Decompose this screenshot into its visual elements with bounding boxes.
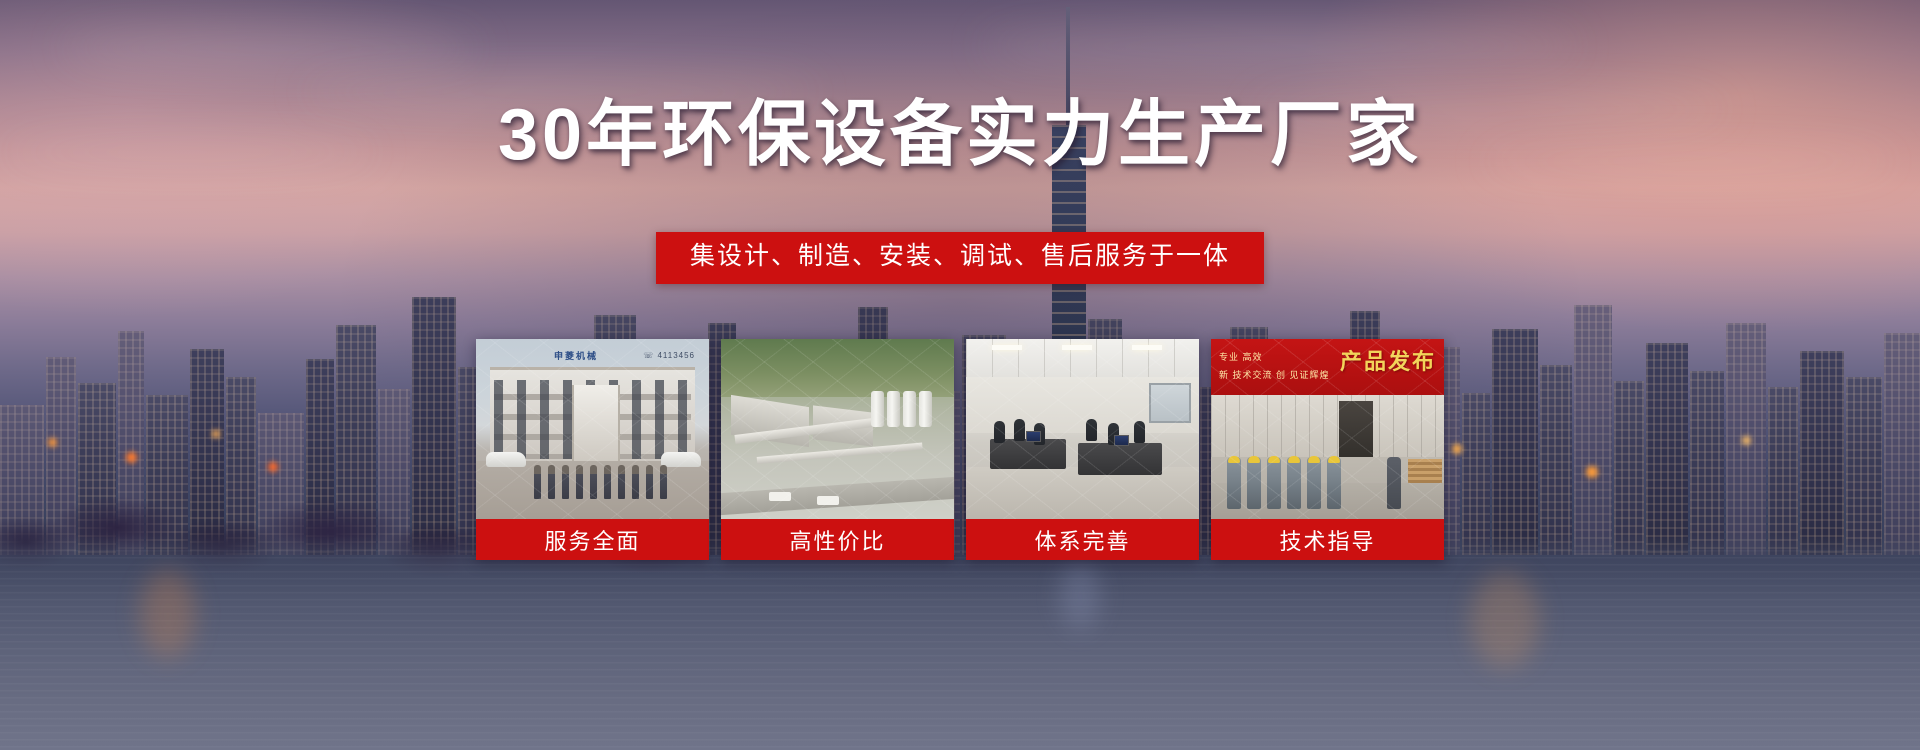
- office-building-staff-photo: 申菱机械 ☏ 4113456: [476, 339, 709, 519]
- subtitle-badge: 集设计、制造、安装、调试、售后服务于一体: [656, 232, 1264, 284]
- feature-card-caption: 技术指导: [1211, 519, 1444, 560]
- banner-content: 30年环保设备实力生产厂家 集设计、制造、安装、调试、售后服务于一体 申菱机械 …: [0, 0, 1920, 750]
- page-title: 30年环保设备实力生产厂家: [0, 99, 1920, 171]
- feature-card[interactable]: 高性价比: [721, 339, 954, 560]
- feature-card-caption: 服务全面: [476, 519, 709, 560]
- aerial-industrial-plant-photo: [721, 339, 954, 519]
- factory-workers-banner-photo: 专业 高效 新 技术交流 创 见证辉煌 产品发布: [1211, 339, 1444, 519]
- feature-card[interactable]: 专业 高效 新 技术交流 创 见证辉煌 产品发布: [1211, 339, 1444, 560]
- office-interior-meeting-photo: [966, 339, 1199, 519]
- feature-card-caption: 高性价比: [721, 519, 954, 560]
- feature-card-caption: 体系完善: [966, 519, 1199, 560]
- hero-banner: 30年环保设备实力生产厂家 集设计、制造、安装、调试、售后服务于一体 申菱机械 …: [0, 0, 1920, 750]
- feature-card[interactable]: 体系完善: [966, 339, 1199, 560]
- feature-card[interactable]: 申菱机械 ☏ 4113456: [476, 339, 709, 560]
- subtitle-text: 集设计、制造、安装、调试、售后服务于一体: [690, 243, 1230, 271]
- feature-card-list: 申菱机械 ☏ 4113456: [476, 339, 1444, 560]
